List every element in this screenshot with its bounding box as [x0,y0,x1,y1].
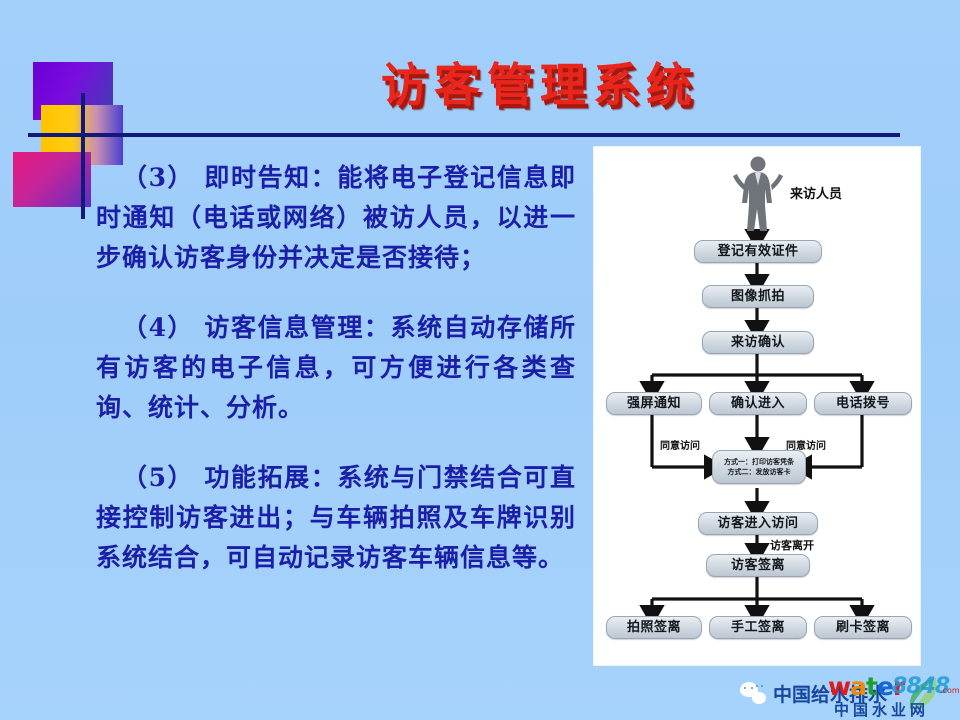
wechat-icon [740,682,766,704]
body-text-block: （3） 即时告知：能将电子登记信息即时通知（电话或网络）被访人员，以进一步确认访… [96,158,576,578]
wm-letter-e: e [877,672,893,701]
visitor-person-icon [732,155,784,233]
decor-horizontal-rule [28,133,900,137]
node-issue-credential[interactable]: 方式一：打印访客凭条 方式二：发放访客卡 [712,450,806,484]
visitor-person-label: 来访人员 [790,183,842,202]
node-visitor-enter[interactable]: 访客进入访问 [698,512,818,535]
decor-vertical-rule [81,93,85,219]
page-title: 访客管理系统 [330,54,750,116]
node-visitor-signout[interactable]: 访客签离 [706,554,810,577]
paragraph-4-text: （4） 访客信息管理：系统自动存储所有访客的电子信息，可方便进行各类查询、统计、… [96,313,576,422]
paragraph-5-text: （5） 功能拓展：系统与门禁结合可直接控制访客进出；与车辆拍照及车牌识别系统结合… [96,463,576,572]
wm-letter-a: a [850,672,866,701]
flowchart-panel: 来访人员 登记有效证件 图像抓拍 来访确认 强屏通知 确认进入 电话拨号 同意访… [594,147,920,665]
paragraph-5: （5） 功能拓展：系统与门禁结合可直接控制访客进出；与车辆拍照及车牌识别系统结合… [96,458,576,578]
node-issue-line1: 方式一：打印访客凭条 [724,457,794,468]
node-manual-signout[interactable]: 手工签离 [709,616,807,639]
paragraph-4: （4） 访客信息管理：系统自动存储所有访客的电子信息，可方便进行各类查询、统计、… [96,308,576,428]
node-phone-dial[interactable]: 电话拨号 [814,392,912,415]
watermark-tld: .com [940,686,960,695]
node-issue-line2: 方式二：发放访客卡 [728,467,791,478]
watermark-logo: water 8848 .com 中国水业网 [828,672,960,720]
paragraph-3-text: （3） 即时告知：能将电子登记信息即时通知（电话或网络）被访人员，以进一步确认访… [96,163,576,272]
node-capture[interactable]: 图像抓拍 [702,285,814,308]
node-card-signout[interactable]: 刷卡签离 [814,616,912,639]
edge-label-agree-left: 同意访问 [660,437,700,452]
slide-canvas: 访客管理系统 （3） 即时告知：能将电子登记信息即时通知（电话或网络）被访人员，… [0,0,960,720]
watermark-chinese: 中国水业网 [834,699,929,720]
wm-letter-t: t [866,672,877,701]
node-screen-notify[interactable]: 强屏通知 [606,392,702,415]
node-confirm-entry[interactable]: 确认进入 [709,392,807,415]
node-register[interactable]: 登记有效证件 [694,240,822,263]
edge-label-visitor-leave: 访客离开 [770,537,814,553]
wm-letter-w: w [828,672,850,701]
node-photo-signout[interactable]: 拍照签离 [606,616,702,639]
node-confirm-visit[interactable]: 来访确认 [702,331,814,354]
paragraph-3: （3） 即时告知：能将电子登记信息即时通知（电话或网络）被访人员，以进一步确认访… [96,158,576,278]
decor-square-magenta [13,152,91,207]
